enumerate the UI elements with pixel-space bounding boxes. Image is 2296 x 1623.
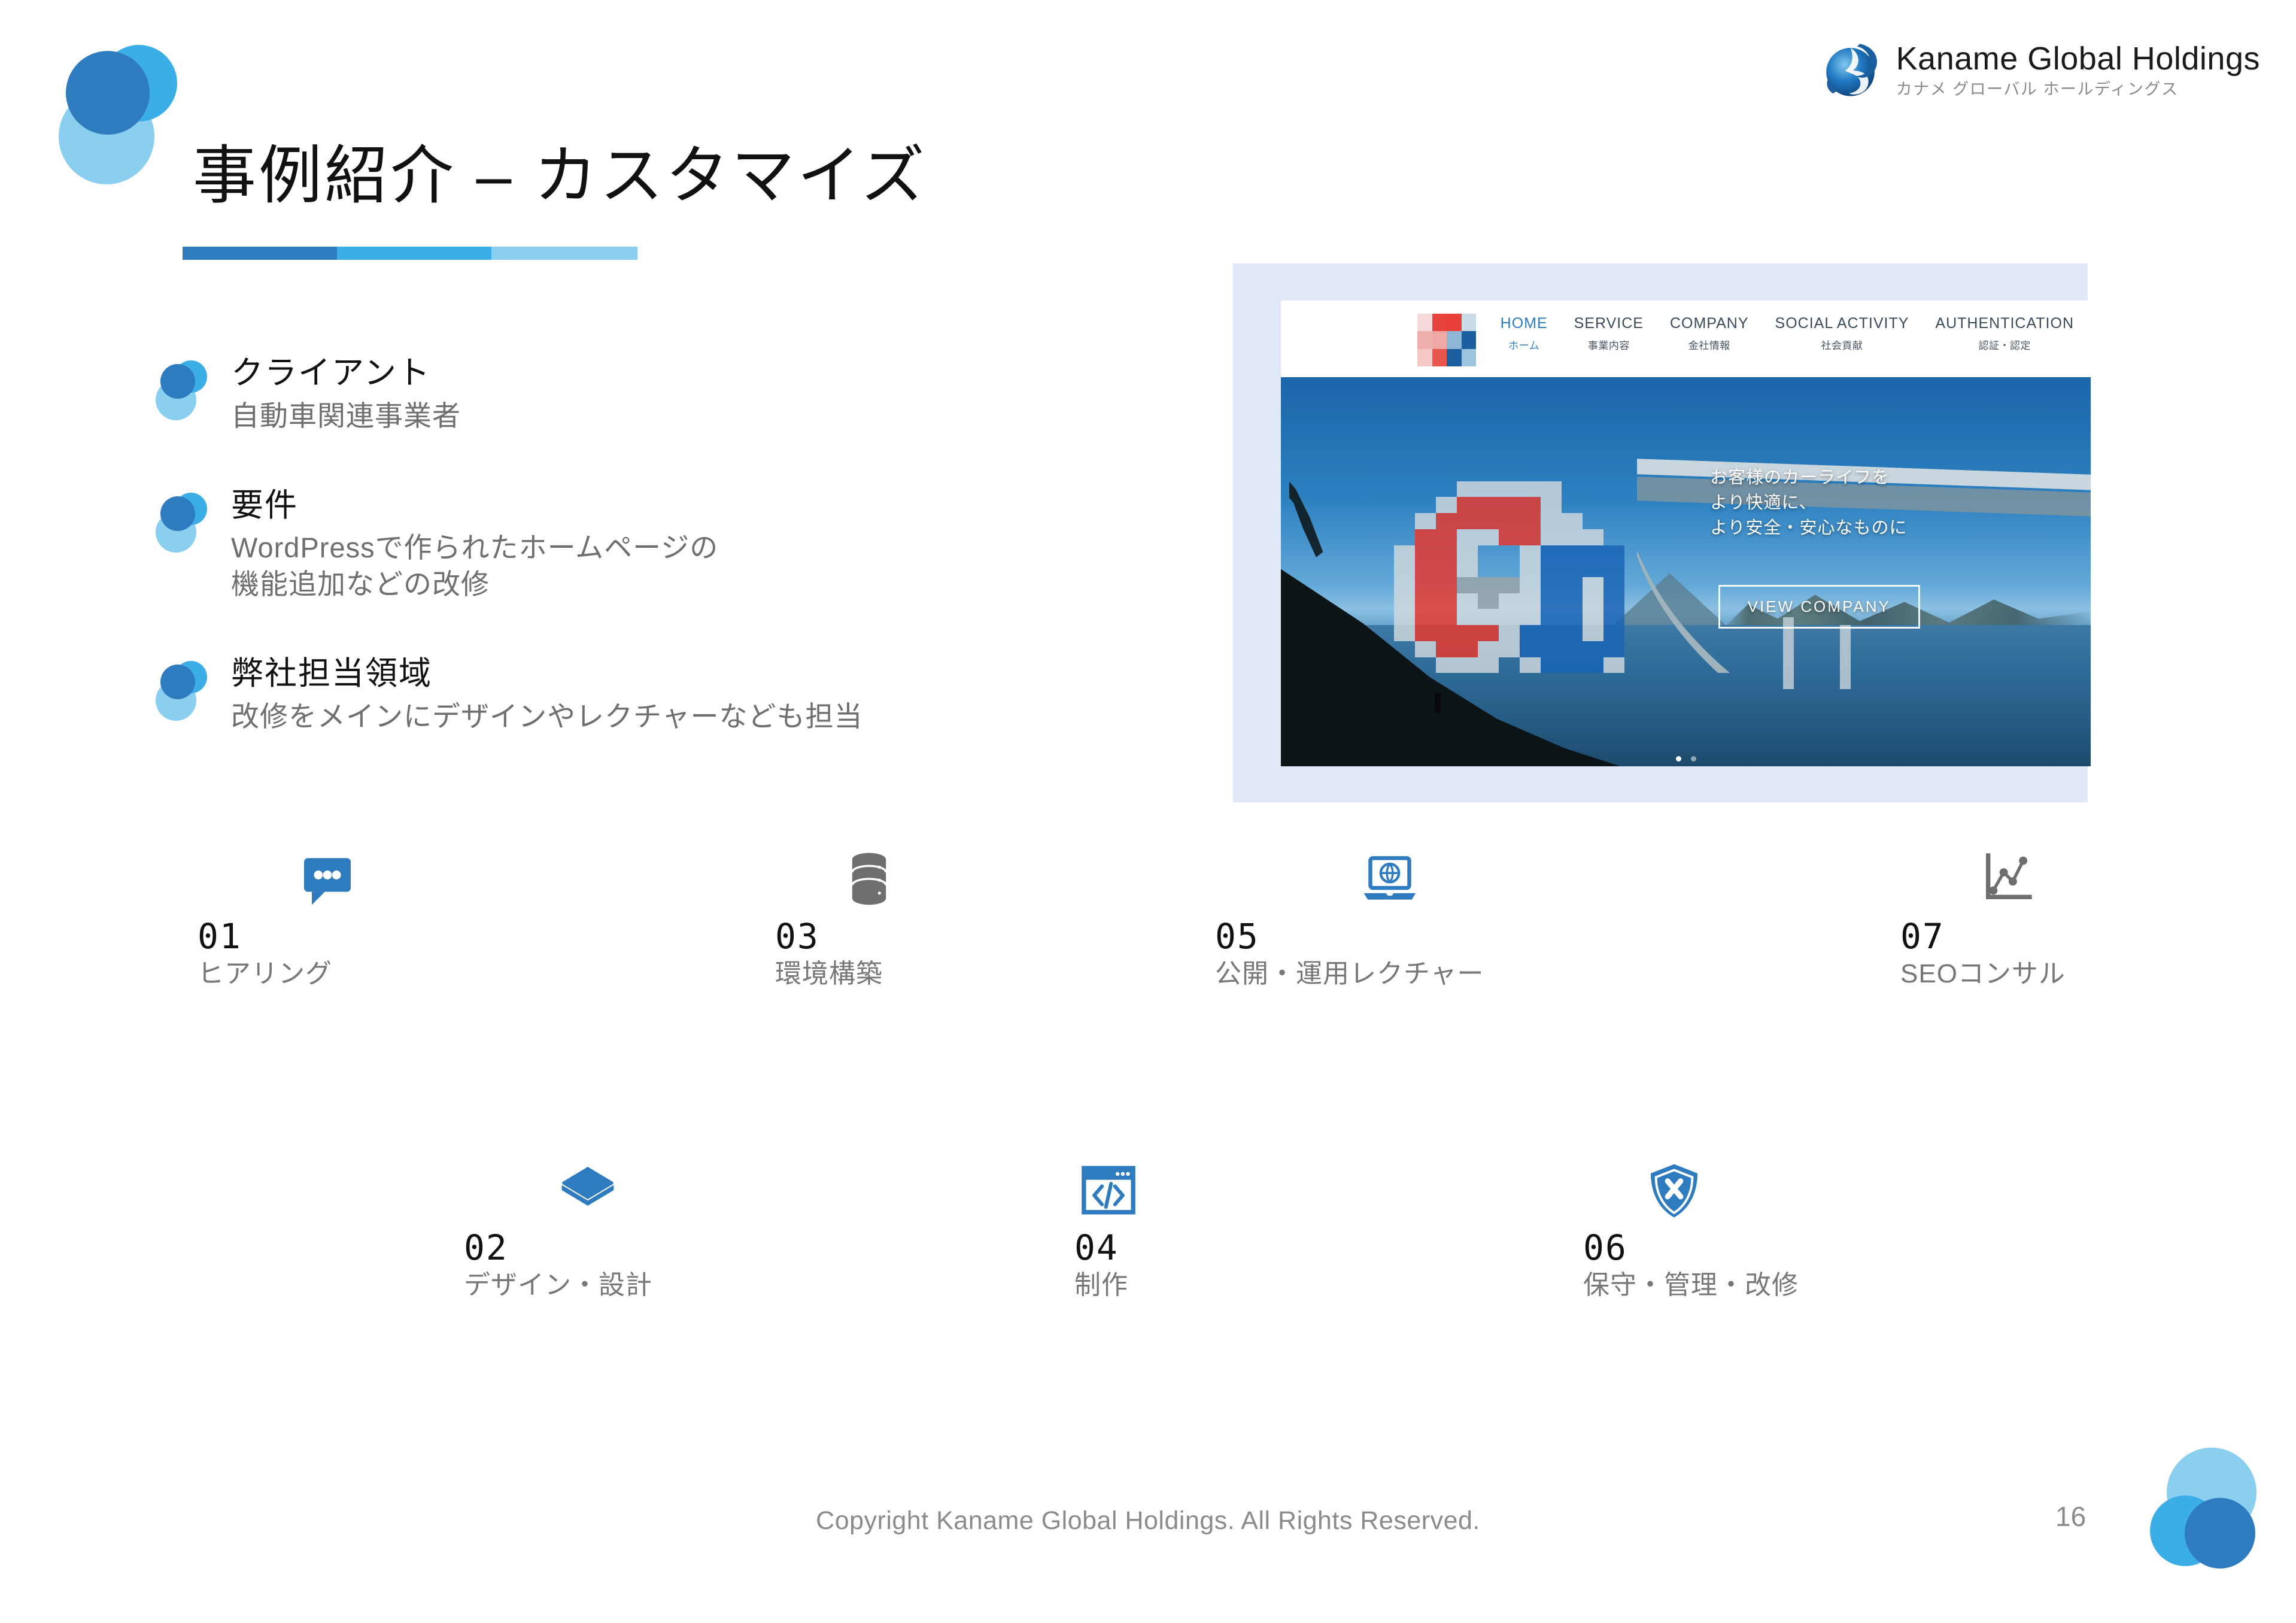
logo-pixel bbox=[1520, 513, 1541, 529]
logo-pixel bbox=[1624, 625, 1645, 641]
nav-label-en: SERVICE bbox=[1574, 315, 1644, 332]
bridge-pier bbox=[1840, 625, 1851, 689]
logo-pixel bbox=[1562, 593, 1583, 609]
line-chart-icon bbox=[1975, 848, 2037, 910]
fact-body: WordPressで作られたホームページの 機能追加などの改修 bbox=[231, 529, 1088, 602]
logo-pixel bbox=[1415, 625, 1436, 641]
logo-pixel bbox=[1415, 497, 1436, 513]
pixelated-logo-watermark-icon bbox=[1394, 481, 1645, 674]
logo-pixel bbox=[1417, 331, 1432, 348]
step-icon-wrap bbox=[1359, 838, 1484, 910]
logo-pixel bbox=[1541, 545, 1562, 562]
brand-logo: Kaname Global Holdings カナメ グローバル ホールディング… bbox=[1820, 37, 2260, 104]
logo-pixel bbox=[1432, 314, 1447, 331]
step-number: 02 bbox=[464, 1230, 652, 1266]
logo-pixel bbox=[1583, 513, 1603, 529]
logo-pixel bbox=[1541, 561, 1562, 577]
logo-pixel bbox=[1478, 529, 1499, 545]
logo-pixel bbox=[1603, 641, 1624, 657]
nav-label-en: COMPANY bbox=[1670, 315, 1749, 332]
logo-pixel bbox=[1394, 529, 1415, 545]
logo-pixel bbox=[1499, 529, 1520, 545]
nav-label-ja: 金社情報 bbox=[1670, 337, 1749, 352]
logo-pixel bbox=[1457, 481, 1478, 497]
logo-pixel bbox=[1436, 513, 1457, 529]
logo-pixel bbox=[1436, 641, 1457, 657]
process-steps-row-odd: 01ヒアリング03環境構築05公開・運用レクチャー07SEOコンサル bbox=[0, 838, 2296, 1030]
logo-pixel bbox=[1457, 609, 1478, 625]
logo-pixel bbox=[1499, 545, 1520, 562]
logo-pixel bbox=[1624, 481, 1645, 497]
nav-label-en: SOCIAL ACTIVITY bbox=[1775, 315, 1909, 332]
copyright-text: Copyright Kaname Global Holdings. All Ri… bbox=[0, 1506, 2296, 1536]
fact-heading: クライアント bbox=[231, 353, 1088, 394]
three-circles-bullet-icon bbox=[154, 492, 217, 554]
logo-pixel bbox=[1394, 561, 1415, 577]
logo-pixel bbox=[1624, 657, 1645, 674]
step-icon-wrap bbox=[1975, 838, 2066, 910]
nav-item-social-activity[interactable]: SOCIAL ACTIVITY社会貢献 bbox=[1775, 315, 1909, 352]
logo-pixel bbox=[1603, 513, 1624, 529]
logo-pixel bbox=[1478, 577, 1499, 593]
step-label: 保守・管理・改修 bbox=[1583, 1270, 1799, 1302]
nav-item-company[interactable]: COMPANY金社情報 bbox=[1670, 315, 1749, 352]
nav-label-ja: 事業内容 bbox=[1574, 337, 1644, 352]
logo-pixel bbox=[1520, 481, 1541, 497]
logo-pixel bbox=[1499, 513, 1520, 529]
logo-pixel bbox=[1541, 657, 1562, 674]
hero-carousel-dots[interactable] bbox=[1676, 756, 1696, 762]
logo-pixel bbox=[1478, 625, 1499, 641]
logo-pixel bbox=[1394, 577, 1415, 593]
circle-dark bbox=[160, 665, 195, 699]
circle-dark bbox=[2185, 1498, 2255, 1569]
step-label: 制作 bbox=[1074, 1270, 1140, 1302]
logo-pixel bbox=[1499, 625, 1520, 641]
logo-pixel bbox=[1499, 593, 1520, 609]
nav-label-ja: 社会貢献 bbox=[1775, 337, 1909, 352]
logo-pixel bbox=[1541, 641, 1562, 657]
website-hero: お客様のカーライフを より快適に、 より安全・安心なものに VIEW COMPA… bbox=[1281, 377, 2091, 766]
logo-pixel bbox=[1499, 561, 1520, 577]
logo-pixel bbox=[1436, 481, 1457, 497]
carousel-dot[interactable] bbox=[1676, 756, 1681, 762]
nav-item-home[interactable]: HOMEホーム bbox=[1501, 315, 1548, 352]
nav-item-service[interactable]: SERVICE事業内容 bbox=[1574, 315, 1644, 352]
logo-pixel bbox=[1624, 641, 1645, 657]
logo-pixel bbox=[1447, 314, 1462, 331]
logo-pixel bbox=[1415, 561, 1436, 577]
title-underline-bar bbox=[183, 247, 637, 260]
step-number: 07 bbox=[1900, 918, 2066, 955]
logo-pixel bbox=[1499, 657, 1520, 674]
logo-pixel bbox=[1447, 349, 1462, 366]
logo-pixel bbox=[1541, 577, 1562, 593]
website-mockup-frame: HOMEホームSERVICE事業内容COMPANY金社情報SOCIAL ACTI… bbox=[1233, 263, 2088, 802]
logo-pixel bbox=[1394, 513, 1415, 529]
shield-x-icon bbox=[1643, 1159, 1705, 1221]
nav-item-authentication[interactable]: AUTHENTICATION認証・認定 bbox=[1935, 315, 2074, 352]
logo-pixel bbox=[1394, 481, 1415, 497]
brand-name-en: Kaname Global Holdings bbox=[1896, 41, 2260, 76]
fact-block: 要件WordPressで作られたホームページの 機能追加などの改修 bbox=[154, 486, 1088, 603]
logo-pixel bbox=[1478, 609, 1499, 625]
logo-pixel bbox=[1478, 497, 1499, 513]
speech-bubble-icon bbox=[296, 848, 359, 910]
logo-pixel bbox=[1541, 497, 1562, 513]
logo-pixel bbox=[1541, 625, 1562, 641]
logo-pixel bbox=[1562, 497, 1583, 513]
logo-pixel bbox=[1478, 513, 1499, 529]
logo-pixel bbox=[1520, 497, 1541, 513]
logo-pixel bbox=[1541, 593, 1562, 609]
logo-pixel bbox=[1603, 625, 1624, 641]
logo-pixel bbox=[1520, 529, 1541, 545]
logo-pixel bbox=[1583, 561, 1603, 577]
logo-pixel bbox=[1562, 529, 1583, 545]
step-number: 05 bbox=[1215, 918, 1484, 955]
three-circles-bullet-icon bbox=[154, 660, 217, 722]
logo-pixel bbox=[1462, 331, 1477, 348]
step-label: 環境構築 bbox=[775, 958, 900, 990]
process-step-02: 02デザイン・設計 bbox=[464, 1149, 652, 1302]
page-title: 事例紹介 – カスタマイズ bbox=[193, 139, 927, 214]
page-number: 16 bbox=[2055, 1500, 2086, 1533]
step-icon-wrap bbox=[296, 838, 359, 910]
process-step-04: 04制作 bbox=[1074, 1149, 1140, 1302]
process-step-07: 07SEOコンサル bbox=[1900, 838, 2066, 990]
slide: Kaname Global Holdings カナメ グローバル ホールディング… bbox=[0, 0, 2296, 1623]
logo-pixel bbox=[1436, 609, 1457, 625]
circle-dark bbox=[66, 51, 150, 135]
logo-pixel bbox=[1520, 625, 1541, 641]
rule-segment-mid bbox=[337, 247, 491, 260]
logo-pixel bbox=[1457, 497, 1478, 513]
step-label: デザイン・設計 bbox=[464, 1270, 652, 1302]
logo-pixel bbox=[1436, 593, 1457, 609]
logo-pixel bbox=[1583, 625, 1603, 641]
logo-pixel bbox=[1520, 545, 1541, 562]
fact-body: 自動車関連事業者 bbox=[231, 398, 1088, 434]
logo-pixel bbox=[1457, 529, 1478, 545]
fact-heading: 要件 bbox=[231, 486, 1088, 526]
logo-pixel bbox=[1478, 545, 1499, 562]
logo-pixel bbox=[1394, 609, 1415, 625]
process-step-01: 01ヒアリング bbox=[198, 838, 359, 990]
logo-pixel bbox=[1394, 625, 1415, 641]
rule-segment-light bbox=[491, 247, 637, 260]
logo-pixel bbox=[1562, 577, 1583, 593]
logo-pixel bbox=[1436, 561, 1457, 577]
logo-pixel bbox=[1583, 529, 1603, 545]
pixelated-company-logo-icon bbox=[1417, 314, 1476, 366]
logo-pixel bbox=[1603, 657, 1624, 674]
logo-pixel bbox=[1624, 609, 1645, 625]
logo-pixel bbox=[1583, 545, 1603, 562]
logo-pixel bbox=[1583, 481, 1603, 497]
step-number: 04 bbox=[1074, 1230, 1140, 1266]
logo-pixel bbox=[1520, 561, 1541, 577]
step-icon-wrap bbox=[557, 1149, 652, 1221]
three-circles-bullet-icon bbox=[154, 359, 217, 421]
logo-pixel bbox=[1624, 513, 1645, 529]
logo-pixel bbox=[1541, 609, 1562, 625]
fact-block: クライアント自動車関連事業者 bbox=[154, 353, 1088, 434]
logo-pixel bbox=[1499, 497, 1520, 513]
brand-names: Kaname Global Holdings カナメ グローバル ホールディング… bbox=[1896, 41, 2260, 100]
logo-pixel bbox=[1583, 497, 1603, 513]
nav-label-en: HOME bbox=[1501, 315, 1548, 332]
logo-pixel bbox=[1520, 609, 1541, 625]
logo-pixel bbox=[1432, 331, 1447, 348]
logo-pixel bbox=[1624, 561, 1645, 577]
logo-pixel bbox=[1478, 561, 1499, 577]
logo-pixel bbox=[1436, 545, 1457, 562]
logo-pixel bbox=[1583, 609, 1603, 625]
logo-pixel bbox=[1457, 561, 1478, 577]
database-icon bbox=[838, 848, 900, 910]
logo-pixel bbox=[1394, 497, 1415, 513]
logo-pixel bbox=[1624, 545, 1645, 562]
logo-pixel bbox=[1478, 641, 1499, 657]
logo-pixel bbox=[1432, 349, 1447, 366]
logo-pixel bbox=[1562, 657, 1583, 674]
logo-pixel bbox=[1478, 481, 1499, 497]
logo-pixel bbox=[1417, 314, 1432, 331]
logo-pixel bbox=[1457, 625, 1478, 641]
website-nav-links: HOMEホームSERVICE事業内容COMPANY金社情報SOCIAL ACTI… bbox=[1501, 315, 2074, 352]
logo-pixel bbox=[1462, 314, 1477, 331]
logo-pixel bbox=[1415, 577, 1436, 593]
step-label: 公開・運用レクチャー bbox=[1215, 958, 1484, 990]
logo-pixel bbox=[1457, 657, 1478, 674]
logo-pixel bbox=[1520, 657, 1541, 674]
logo-pixel bbox=[1520, 641, 1541, 657]
logo-pixel bbox=[1415, 545, 1436, 562]
logo-pixel bbox=[1436, 625, 1457, 641]
logo-pixel bbox=[1457, 545, 1478, 562]
logo-pixel bbox=[1562, 641, 1583, 657]
logo-pixel bbox=[1583, 577, 1603, 593]
step-label: ヒアリング bbox=[198, 958, 359, 990]
logo-pixel bbox=[1583, 641, 1603, 657]
logo-pixel bbox=[1462, 349, 1477, 366]
logo-pixel bbox=[1624, 497, 1645, 513]
hero-tagline: お客様のカーライフを より快適に、 より安全・安心なものに bbox=[1710, 465, 1907, 541]
logo-pixel bbox=[1541, 513, 1562, 529]
logo-pixel bbox=[1562, 545, 1583, 562]
decorative-circles-bottom-right bbox=[2137, 1443, 2280, 1586]
fact-block: 弊社担当領域改修をメインにデザインやレクチャーなども担当 bbox=[154, 654, 1088, 735]
logo-pixel bbox=[1603, 529, 1624, 545]
process-step-06: 06保守・管理・改修 bbox=[1583, 1149, 1799, 1302]
step-label: SEOコンサル bbox=[1900, 958, 2066, 990]
logo-pixel bbox=[1562, 625, 1583, 641]
step-icon-wrap bbox=[1643, 1149, 1799, 1221]
logo-pixel bbox=[1583, 593, 1603, 609]
decorative-circles-top-left bbox=[54, 42, 192, 180]
logo-pixel bbox=[1562, 513, 1583, 529]
website-browser-window: HOMEホームSERVICE事業内容COMPANY金社情報SOCIAL ACTI… bbox=[1281, 301, 2091, 766]
logo-pixel bbox=[1415, 609, 1436, 625]
logo-pixel bbox=[1478, 593, 1499, 609]
logo-pixel bbox=[1394, 545, 1415, 562]
logo-pixel bbox=[1394, 593, 1415, 609]
step-number: 01 bbox=[198, 918, 359, 955]
logo-pixel bbox=[1436, 529, 1457, 545]
brand-name-ja: カナメ グローバル ホールディングス bbox=[1896, 80, 2260, 100]
logo-pixel bbox=[1394, 657, 1415, 674]
logo-pixel bbox=[1603, 497, 1624, 513]
logo-pixel bbox=[1415, 481, 1436, 497]
logo-pixel bbox=[1541, 529, 1562, 545]
logo-pixel bbox=[1603, 545, 1624, 562]
facts-list: クライアント自動車関連事業者要件WordPressで作られたホームページの 機能… bbox=[154, 353, 1088, 735]
logo-pixel bbox=[1562, 609, 1583, 625]
logo-pixel bbox=[1457, 577, 1478, 593]
step-number: 03 bbox=[775, 918, 900, 955]
rule-segment-dark bbox=[183, 247, 337, 260]
logo-pixel bbox=[1603, 481, 1624, 497]
kaname-swirl-logo-icon bbox=[1820, 37, 1887, 104]
website-navbar: HOMEホームSERVICE事業内容COMPANY金社情報SOCIAL ACTI… bbox=[1281, 301, 2091, 377]
fact-heading: 弊社担当領域 bbox=[231, 654, 1088, 694]
laptop-globe-icon bbox=[1359, 848, 1421, 910]
logo-pixel bbox=[1478, 657, 1499, 674]
logo-pixel bbox=[1457, 513, 1478, 529]
logo-pixel bbox=[1624, 577, 1645, 593]
logo-pixel bbox=[1436, 577, 1457, 593]
circle-dark bbox=[160, 364, 195, 399]
logo-pixel bbox=[1562, 481, 1583, 497]
logo-pixel bbox=[1603, 609, 1624, 625]
logo-pixel bbox=[1603, 593, 1624, 609]
logo-pixel bbox=[1499, 641, 1520, 657]
circle-dark bbox=[160, 496, 195, 531]
logo-pixel bbox=[1520, 577, 1541, 593]
process-step-03: 03環境構築 bbox=[775, 838, 900, 990]
nav-label-en: AUTHENTICATION bbox=[1935, 315, 2074, 332]
logo-pixel bbox=[1624, 529, 1645, 545]
step-number: 06 bbox=[1583, 1230, 1799, 1266]
logo-pixel bbox=[1624, 593, 1645, 609]
fact-body: 改修をメインにデザインやレクチャーなども担当 bbox=[231, 698, 1088, 735]
nav-label-ja: ホーム bbox=[1501, 337, 1548, 352]
logo-pixel bbox=[1541, 481, 1562, 497]
view-company-button[interactable]: VIEW COMPANY bbox=[1718, 585, 1920, 629]
logo-pixel bbox=[1603, 577, 1624, 593]
logo-pixel bbox=[1415, 641, 1436, 657]
logo-pixel bbox=[1415, 593, 1436, 609]
logo-pixel bbox=[1457, 593, 1478, 609]
logo-pixel bbox=[1499, 609, 1520, 625]
logo-pixel bbox=[1583, 657, 1603, 674]
logo-pixel bbox=[1436, 497, 1457, 513]
step-icon-wrap bbox=[838, 838, 900, 910]
logo-pixel bbox=[1417, 349, 1432, 366]
logo-pixel bbox=[1415, 657, 1436, 674]
logo-pixel bbox=[1447, 331, 1462, 348]
logo-pixel bbox=[1499, 577, 1520, 593]
process-step-05: 05公開・運用レクチャー bbox=[1215, 838, 1484, 990]
layers-icon bbox=[557, 1159, 619, 1221]
process-steps-row-even: 02デザイン・設計04制作06保守・管理・改修 bbox=[0, 1149, 2296, 1341]
logo-pixel bbox=[1436, 657, 1457, 674]
step-icon-wrap bbox=[1077, 1149, 1140, 1221]
logo-pixel bbox=[1394, 641, 1415, 657]
logo-pixel bbox=[1520, 593, 1541, 609]
logo-pixel bbox=[1415, 513, 1436, 529]
nav-label-ja: 認証・認定 bbox=[1935, 337, 2074, 352]
hero-person-silhouette bbox=[1435, 693, 1441, 713]
logo-pixel bbox=[1415, 529, 1436, 545]
carousel-dot[interactable] bbox=[1691, 756, 1696, 762]
logo-pixel bbox=[1562, 561, 1583, 577]
logo-pixel bbox=[1603, 561, 1624, 577]
logo-pixel bbox=[1499, 481, 1520, 497]
code-window-icon bbox=[1077, 1159, 1140, 1221]
logo-pixel bbox=[1457, 641, 1478, 657]
